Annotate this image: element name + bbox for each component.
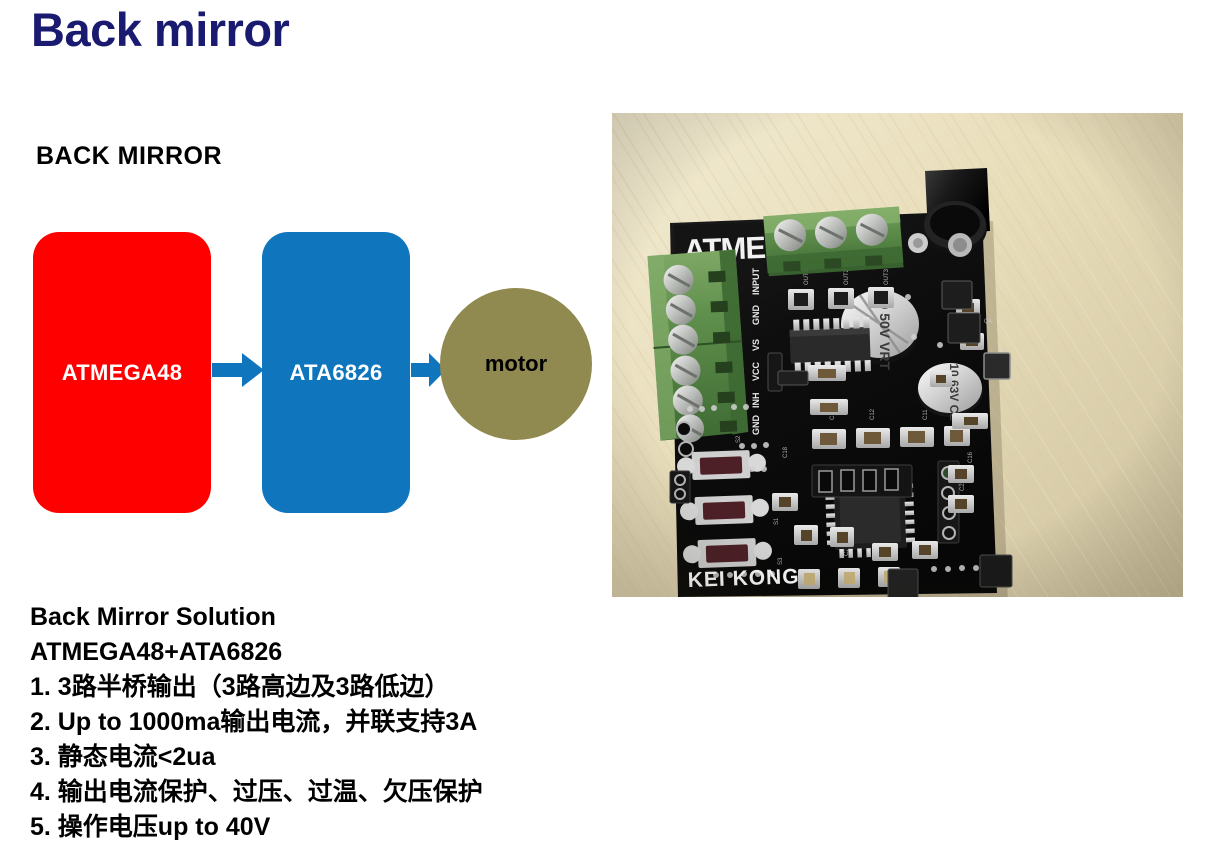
diagram-node-motor-label: motor [485,351,547,377]
arrow-mcu-to-driver [212,352,264,388]
solution-description: Back Mirror Solution ATMEGA48+ATA6826 1.… [30,600,610,845]
solution-bullet-1: 1. 3路半桥输出（3路高边及3路低边） [30,670,610,705]
diagram-node-ata6826-label: ATA6826 [290,360,383,386]
pcb-board-photo: ATMEL ATA6826 DEMO P7 S2 S1 S3 C18 P4 C1… [612,113,1183,597]
solution-heading-line-2: ATMEGA48+ATA6826 [30,635,610,670]
diagram-node-motor: motor [440,288,592,440]
solution-bullet-3: 3. 静态电流<2ua [30,740,610,775]
block-diagram: ATMEGA48 ATA6826 motor [0,0,620,560]
diagram-node-ata6826: ATA6826 [262,232,410,513]
solution-bullet-2: 2. Up to 1000ma输出电流，并联支持3A [30,705,610,740]
solution-heading-line-1: Back Mirror Solution [30,600,610,635]
solution-bullet-5: 5. 操作电压up to 40V [30,810,610,845]
diagram-node-atmega48-label: ATMEGA48 [62,360,183,386]
solution-bullet-4: 4. 输出电流保护、过压、过温、欠压保护 [30,775,610,810]
diagram-node-atmega48: ATMEGA48 [33,232,211,513]
